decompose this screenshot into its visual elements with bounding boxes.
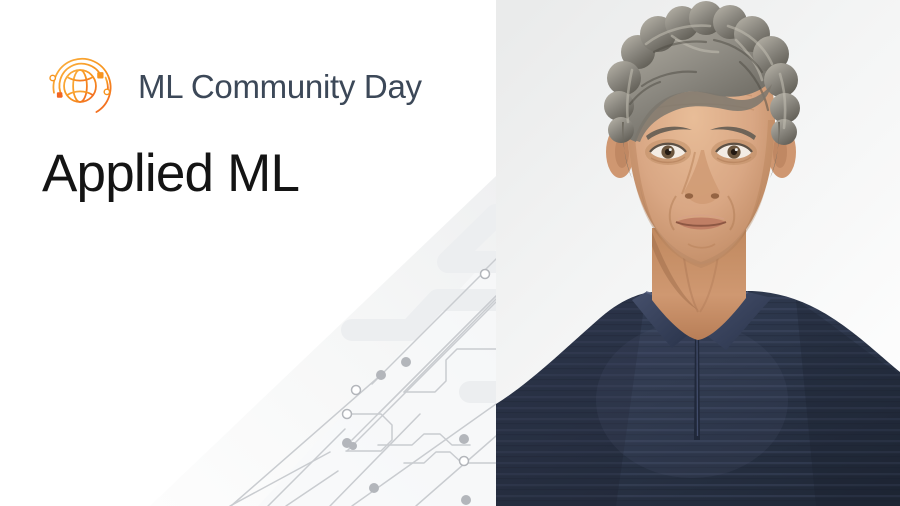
circuit-band [352,300,496,330]
circuit-node-hollow [460,457,469,466]
circuit-node-filled [401,357,411,367]
hair-curl [608,117,634,143]
orbit-node-hollow [104,89,109,94]
circuit-line [404,452,496,463]
circuit-line [481,195,496,274]
circuit-line [378,296,496,414]
circuit-line [330,414,420,506]
orbit-node-square [97,72,103,78]
globe-orbit-icon [38,44,122,128]
orbit-node-hollow [50,75,55,80]
nostril-left [685,193,693,199]
circuit-line [378,434,470,445]
diagonal-wedge [150,176,496,506]
circuit-node-hollow [352,386,361,395]
globe-shape [64,70,96,102]
left-content-panel: ML Community Day Applied ML [0,0,496,506]
circuit-node-group [342,357,471,505]
circuit-band [448,215,496,262]
circuit-node-filled [349,442,357,450]
hair-curl [604,91,634,121]
shirt-highlight [596,322,788,478]
circuit-line-group [230,195,496,506]
circuit-line [268,429,345,506]
page-title: Applied ML [42,143,299,206]
presentation-slide: ML Community Day Applied ML [0,0,900,506]
diagonal-wedge-soft [258,250,496,506]
circuit-line [372,272,484,384]
circuit-node-filled [376,370,386,380]
circuit-line [352,296,496,440]
circuit-line [286,471,338,506]
circuit-line [346,414,392,451]
circuit-node-hollow [481,270,490,279]
circuit-line [404,299,496,392]
circuit-node-hollow [343,410,352,419]
speaker-portrait-image [496,0,900,506]
circuit-node-filled [369,483,379,493]
circuit-node-filled [461,495,471,505]
circuit-node-hollow-group [343,270,490,466]
circuit-line [347,302,496,451]
brand-lockup: ML Community Day [38,44,422,128]
circuit-line [404,349,496,392]
speaker-photo-panel [496,0,900,506]
circuit-line [230,452,330,506]
circuit-node-filled [342,438,352,448]
brand-wordmark: ML Community Day [138,70,422,103]
circuit-line [352,404,496,506]
circuit-band-group [352,215,496,392]
orbit-node-square [57,92,62,97]
hair-curl [607,61,641,95]
circuit-node-filled [459,434,469,444]
circuit-line [231,374,382,506]
circuit-line [416,436,496,506]
nostril-right [711,193,719,199]
zip-line [697,336,698,436]
